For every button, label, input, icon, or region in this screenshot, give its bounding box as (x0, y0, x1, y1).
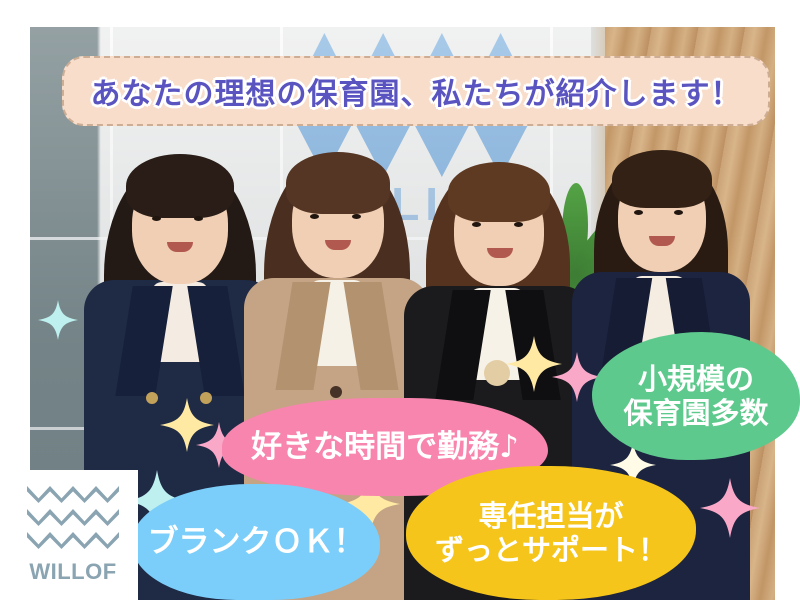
sparkle-cyan-icon (38, 300, 78, 340)
frame-margin-top (0, 0, 800, 27)
advertisement-banner: WILLOF (0, 0, 800, 600)
bubble-line-1: 専任担当が (435, 499, 667, 533)
bubble-line-1: 好きな時間で勤務♪ (251, 429, 519, 466)
bubble-line-2: ずっとサポート！ (435, 533, 667, 567)
feature-bubble-dedicated-support[interactable]: 専任担当が ずっとサポート！ (406, 466, 696, 600)
brand-zigzag-icon (27, 486, 119, 555)
bubble-line-1: ブランクＯＫ！ (148, 524, 365, 561)
feature-bubble-blank-ok[interactable]: ブランクＯＫ！ (132, 484, 380, 600)
feature-bubble-small-nursery[interactable]: 小規模の 保育園多数 (592, 332, 800, 460)
brand-wordmark: WILLOF (29, 559, 116, 585)
bubble-line-1: 小規模の (623, 362, 768, 396)
bubble-line-2: 保育園多数 (623, 396, 768, 430)
frame-margin-right (775, 0, 800, 600)
headline-text: あなたの理想の保育園、私たちが紹介します！ (91, 69, 742, 113)
headline-banner: あなたの理想の保育園、私たちが紹介します！ (62, 56, 770, 126)
brand-logo-box: WILLOF (8, 470, 138, 600)
sparkle-pink-icon (700, 478, 760, 538)
